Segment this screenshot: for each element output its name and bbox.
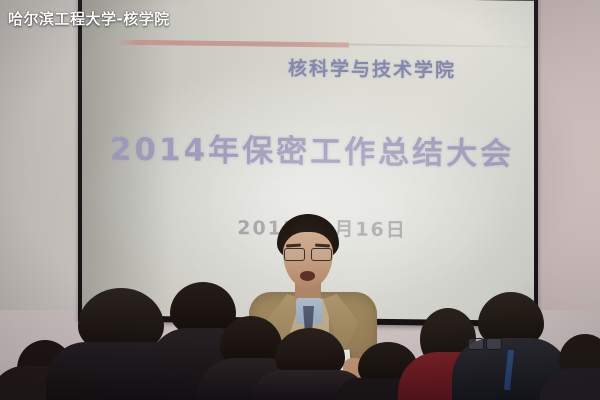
slide-title: 2014年保密工作总结大会 bbox=[102, 123, 522, 173]
eyeglasses-icon bbox=[283, 248, 333, 259]
watermark-text: 哈尔滨工程大学-核学院 bbox=[8, 8, 170, 29]
slide-subtitle: 核科学与技术学院 bbox=[222, 53, 522, 84]
audience-body bbox=[540, 368, 600, 400]
conference-photograph: 核科学与技术学院 2014年保密工作总结大会 2015年1月16日 bbox=[0, 0, 600, 400]
slide-divider-rule-thin bbox=[349, 44, 534, 48]
speaker-mouth bbox=[300, 271, 315, 281]
list-item bbox=[540, 330, 600, 400]
slide-divider-rule bbox=[119, 40, 349, 48]
eyeglasses-icon bbox=[468, 338, 502, 348]
